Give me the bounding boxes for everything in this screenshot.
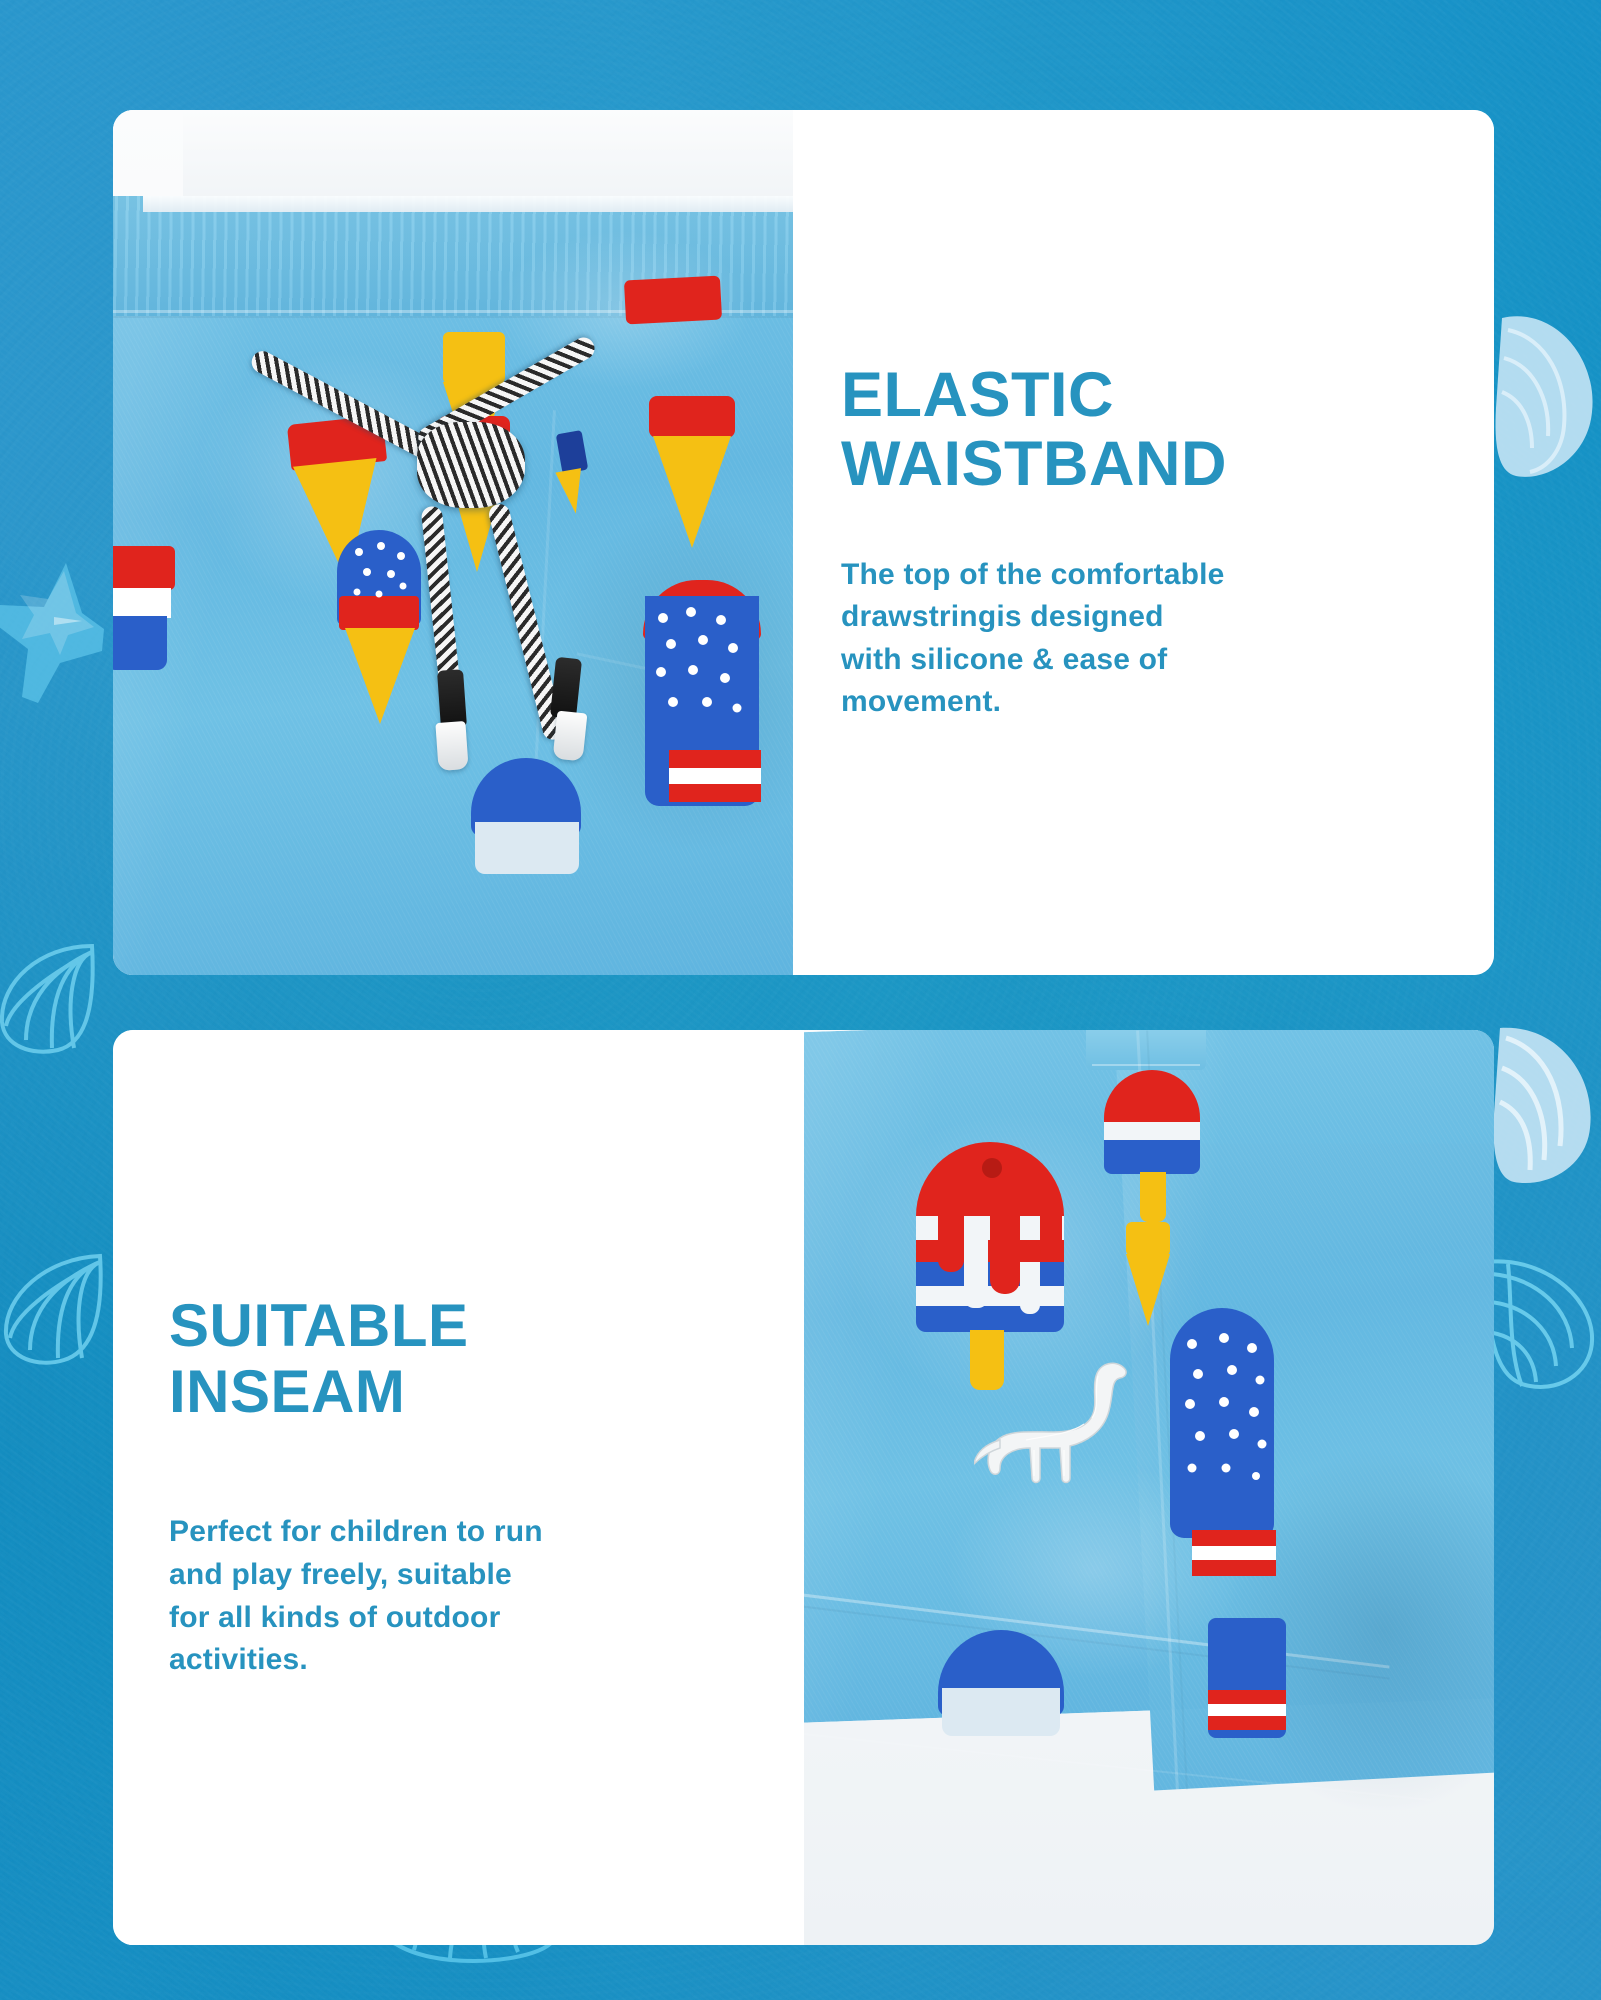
panel-headline: SUITABLE INSEAM — [169, 1293, 756, 1425]
panel-headline: ELASTIC WAISTBAND — [841, 361, 1438, 500]
panel-body-text: The top of the comfortable drawstringis … — [841, 554, 1438, 724]
feature-card-suitable-inseam: SUITABLE INSEAM Perfect for children to … — [113, 1030, 1494, 1945]
feature-text-column: ELASTIC WAISTBAND The top of the comfort… — [793, 110, 1494, 975]
product-photo-inseam — [804, 1030, 1494, 1945]
panel-body-text: Perfect for children to run and play fre… — [169, 1511, 756, 1681]
feature-text-column: SUITABLE INSEAM Perfect for children to … — [113, 1030, 804, 1945]
product-photo-waistband — [113, 110, 793, 975]
feature-card-elastic-waistband: ELASTIC WAISTBAND The top of the comfort… — [113, 110, 1494, 975]
